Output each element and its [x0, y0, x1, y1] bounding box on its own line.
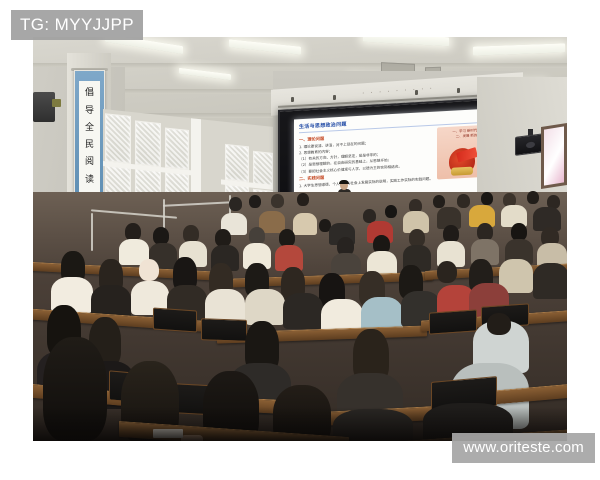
- audience-head: [385, 205, 397, 218]
- stair-rail: [91, 213, 93, 251]
- audience-head: [487, 313, 511, 335]
- track-light: [415, 90, 418, 95]
- track-light: [457, 88, 460, 93]
- seat-back: [429, 309, 477, 334]
- audience-coat: [293, 213, 317, 235]
- illustration-base: [451, 167, 473, 176]
- audience-head: [457, 194, 470, 208]
- audience-head: [433, 195, 445, 208]
- audience-head: [249, 195, 261, 208]
- banner-text: 倡 导 全 民 阅 读: [79, 81, 100, 193]
- photograph: 倡 导 全 民 阅 读 · · · · · · · · · 生活与思想: [33, 37, 567, 441]
- wall-fixture: [52, 99, 61, 107]
- presenter-hair: [339, 180, 349, 184]
- window-pane: [135, 120, 161, 167]
- audience-head: [297, 193, 309, 206]
- speaker-cone: [526, 141, 535, 148]
- banner-char-2: 导: [85, 107, 94, 116]
- framed-picture: [541, 123, 567, 189]
- window-pane: [253, 151, 273, 187]
- audience-coat: [533, 263, 567, 299]
- audience-head: [437, 261, 457, 283]
- audience-coat: [245, 289, 285, 325]
- website-watermark-badge: www.oriteste.com: [452, 433, 595, 463]
- track-light: [333, 95, 336, 100]
- banner-char-4: 民: [85, 141, 94, 150]
- audience-head: [481, 192, 493, 205]
- audience-head: [527, 191, 539, 204]
- audience-coat: [283, 293, 323, 329]
- window-pane: [105, 113, 131, 164]
- wall-banner: 倡 导 全 民 阅 读: [74, 70, 105, 200]
- av-equipment-box: [33, 92, 55, 122]
- slide-text-column: 一、理论问题 1. 理论要说清、讲清，对不上现在的问题； 2. 思想教育的内容；…: [299, 128, 433, 190]
- banner-char-6: 读: [85, 176, 94, 185]
- audience-head: [271, 194, 284, 208]
- audience-head: [229, 197, 242, 211]
- seat-back: [201, 318, 247, 342]
- seat-back: [153, 307, 197, 332]
- banner-char-3: 全: [85, 124, 94, 133]
- window-pane: [225, 144, 249, 183]
- banner-char-5: 阅: [85, 158, 94, 167]
- banner-char-1: 倡: [85, 89, 94, 98]
- audience-head: [139, 259, 159, 281]
- window-pane: [165, 128, 189, 171]
- track-light: [291, 97, 294, 102]
- telegram-watermark-badge: TG: MYYJJPP: [11, 10, 143, 40]
